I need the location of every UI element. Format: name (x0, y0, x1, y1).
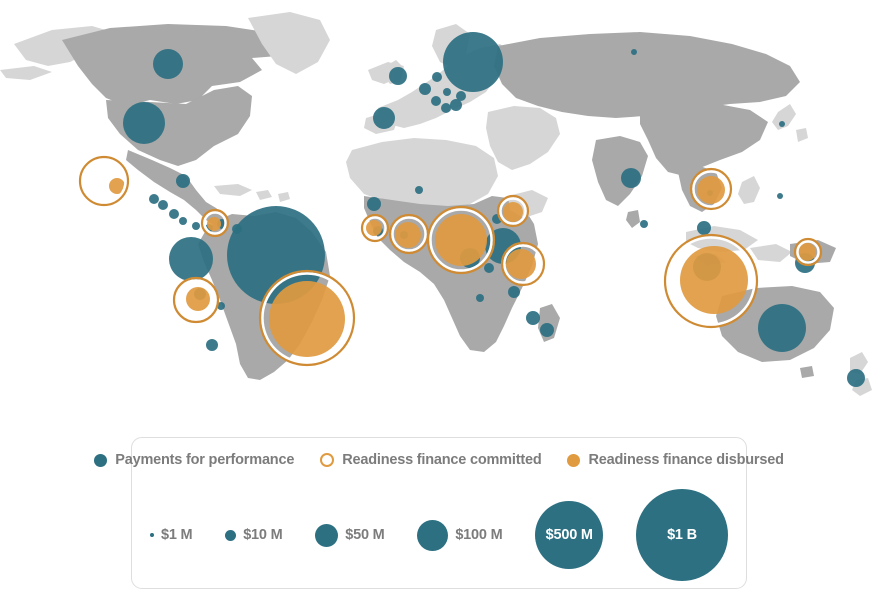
legend-size-scale: $1 M$10 M$50 M$100 M$500 M$1 B (150, 490, 728, 580)
filled-circle-icon (567, 454, 580, 467)
legend-scale-label: $10 M (243, 527, 282, 543)
legend-scale-item: $1 M (150, 527, 192, 543)
world-map (0, 0, 878, 430)
land-australia (716, 286, 834, 362)
land-indonesia (686, 226, 792, 266)
legend-scale-label: $500 M (546, 527, 593, 543)
legend-panel: Payments for performance Readiness finan… (131, 437, 747, 589)
land-se-asia (678, 166, 722, 212)
legend-scale-item: $50 M (315, 524, 384, 547)
legend-scale-bubble: $500 M (535, 501, 603, 569)
outline-circle-icon (320, 453, 334, 467)
legend-scale-bubble: $1 B (636, 489, 728, 581)
legend-scale-label: $1 M (161, 527, 192, 543)
land-south-america (198, 212, 330, 380)
land-caribbean (214, 184, 290, 202)
legend-key-label: Readiness finance disbursed (588, 452, 783, 468)
legend-scale-item: $10 M (225, 527, 282, 543)
land-japan (772, 104, 808, 142)
land-tasmania (800, 366, 814, 378)
land-sri-lanka (626, 210, 640, 228)
legend-key-readiness-finance-committed: Readiness finance committed (320, 452, 541, 468)
legend-series-keys: Payments for performance Readiness finan… (132, 452, 746, 468)
land-east-asia (640, 104, 768, 176)
land-canada (62, 24, 288, 106)
landmasses (0, 12, 872, 396)
land-middle-east (486, 106, 560, 170)
land-new-zealand (850, 352, 872, 396)
legend-scale-bubble (417, 520, 448, 551)
legend-scale-label: $50 M (345, 527, 384, 543)
legend-scale-bubble (150, 533, 154, 537)
world-map-svg (0, 0, 878, 430)
legend-scale-label: $100 M (455, 527, 502, 543)
legend-scale-item: $500 M (535, 501, 603, 569)
land-russia (494, 32, 800, 118)
bubble-map-figure: Payments for performance Readiness finan… (0, 0, 878, 600)
land-philippines (738, 176, 760, 204)
legend-scale-item: $100 M (417, 520, 502, 551)
legend-scale-bubble (315, 524, 338, 547)
legend-scale-label: $1 B (667, 527, 697, 543)
legend-scale-item: $1 B (636, 489, 728, 581)
legend-key-label: Payments for performance (115, 452, 294, 468)
legend-key-readiness-finance-disbursed: Readiness finance disbursed (567, 452, 783, 468)
legend-key-label: Readiness finance committed (342, 452, 541, 468)
land-madagascar (538, 304, 560, 342)
land-new-guinea (790, 240, 836, 264)
legend-scale-bubble (225, 530, 236, 541)
land-india (592, 136, 648, 206)
land-sub-saharan-africa (364, 196, 538, 352)
legend-key-payments-for-performance: Payments for performance (94, 452, 294, 468)
filled-circle-icon (94, 454, 107, 467)
